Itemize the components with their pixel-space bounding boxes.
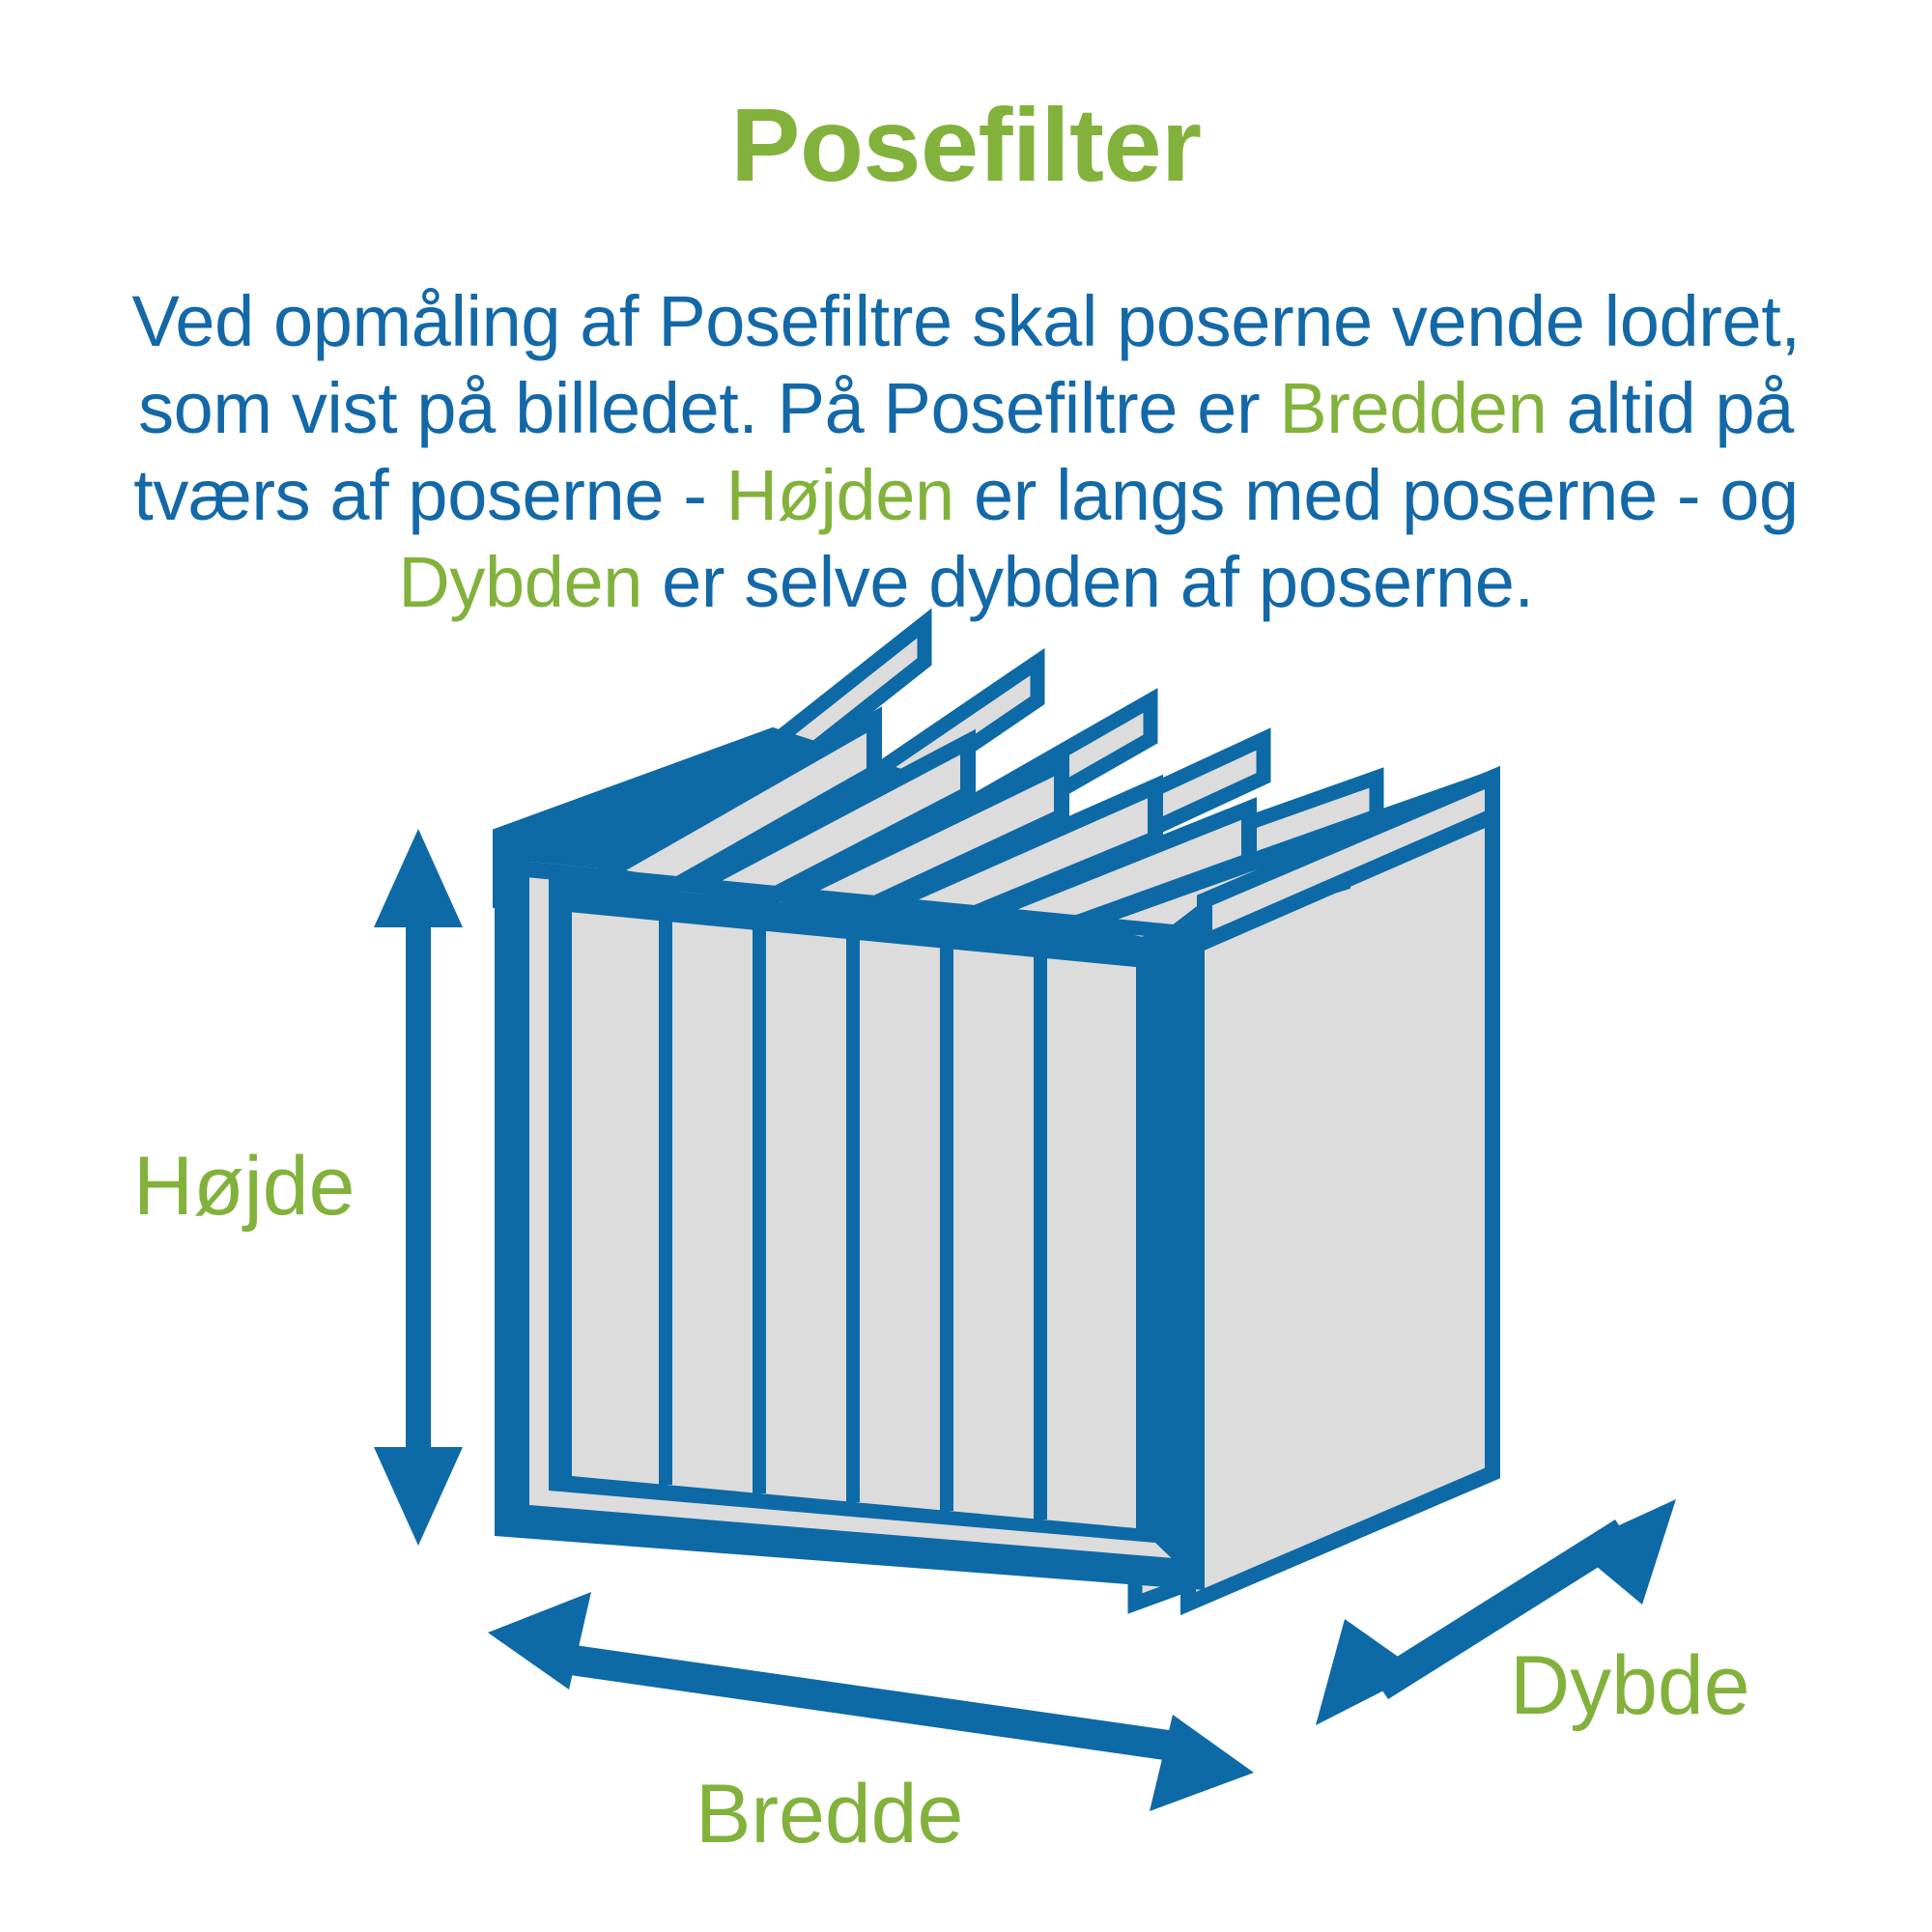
depth-arrow-head-down	[1316, 1619, 1420, 1725]
depth-arrow-head-up	[1573, 1499, 1676, 1605]
width-arrow-shaft	[543, 1641, 1196, 1764]
height-arrow-shaft	[406, 869, 431, 1507]
height-arrow-head-up	[374, 829, 463, 927]
width-arrow-head-right	[1150, 1715, 1254, 1811]
dimension-label-width: Bredde	[696, 1773, 963, 1856]
height-arrow-head-down	[374, 1447, 463, 1546]
poster-canvas: Posefilter Ved opmåling af Posefiltre sk…	[0, 0, 1932, 1932]
dimension-label-depth: Dybde	[1510, 1644, 1750, 1727]
height-arrow	[374, 829, 463, 1546]
filter-depth-post	[1155, 900, 1205, 1590]
dimension-label-height: Højde	[133, 1145, 355, 1228]
